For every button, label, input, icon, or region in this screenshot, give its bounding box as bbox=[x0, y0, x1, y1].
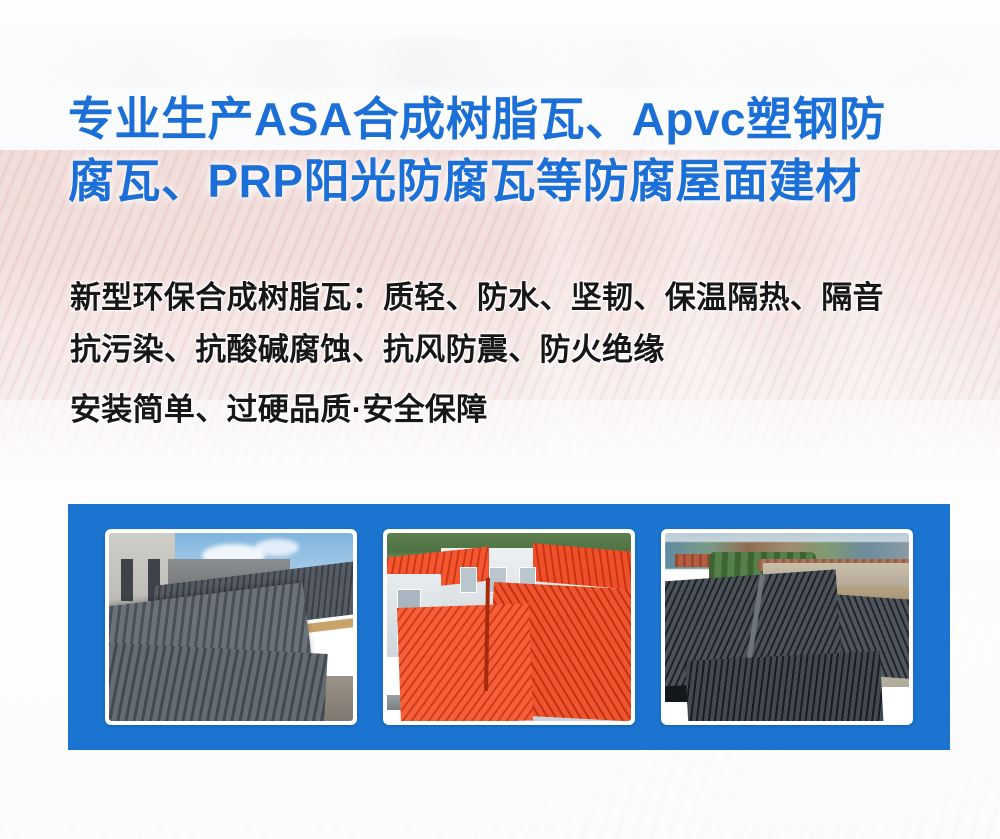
promo-banner: 专业生产ASA合成树脂瓦、Apvc塑钢防 腐瓦、PRP阳光防腐瓦等防腐屋面建材 … bbox=[0, 0, 1000, 839]
photo1-lower-tile-roof bbox=[109, 642, 328, 721]
photo1-cloud-icon-2 bbox=[255, 539, 299, 556]
photo-frame-1[interactable] bbox=[105, 529, 357, 725]
subheadline-line-2: 抗污染、抗酸碱腐蚀、抗风防震、防火绝缘 bbox=[70, 324, 970, 376]
photo-frame-2[interactable] bbox=[383, 529, 635, 725]
black-resin-tile-roof-photo bbox=[665, 533, 909, 721]
subheadline-line-3: 安装简单、过硬品质·安全保障 bbox=[70, 384, 970, 436]
photo3-front-tile-roof bbox=[685, 651, 884, 721]
red-resin-tile-roof-photo bbox=[387, 533, 631, 721]
photo2-left-hip-roof bbox=[397, 604, 533, 721]
photo-gallery-panel bbox=[68, 504, 950, 750]
photo-frame-3[interactable] bbox=[661, 529, 913, 725]
subheadline-block: 新型环保合成树脂瓦：质轻、防水、坚韧、保温隔热、隔音 抗污染、抗酸碱腐蚀、抗风防… bbox=[70, 272, 970, 436]
photo2-window-1 bbox=[460, 567, 477, 593]
subheadline-line-1: 新型环保合成树脂瓦：质轻、防水、坚韧、保温隔热、隔音 bbox=[70, 272, 970, 324]
headline: 专业生产ASA合成树脂瓦、Apvc塑钢防 腐瓦、PRP阳光防腐瓦等防腐屋面建材 bbox=[68, 88, 948, 212]
banner-content: 专业生产ASA合成树脂瓦、Apvc塑钢防 腐瓦、PRP阳光防腐瓦等防腐屋面建材 … bbox=[0, 0, 1000, 839]
photo1-window-1 bbox=[121, 559, 133, 600]
grey-resin-tile-roof-photo bbox=[109, 533, 353, 721]
